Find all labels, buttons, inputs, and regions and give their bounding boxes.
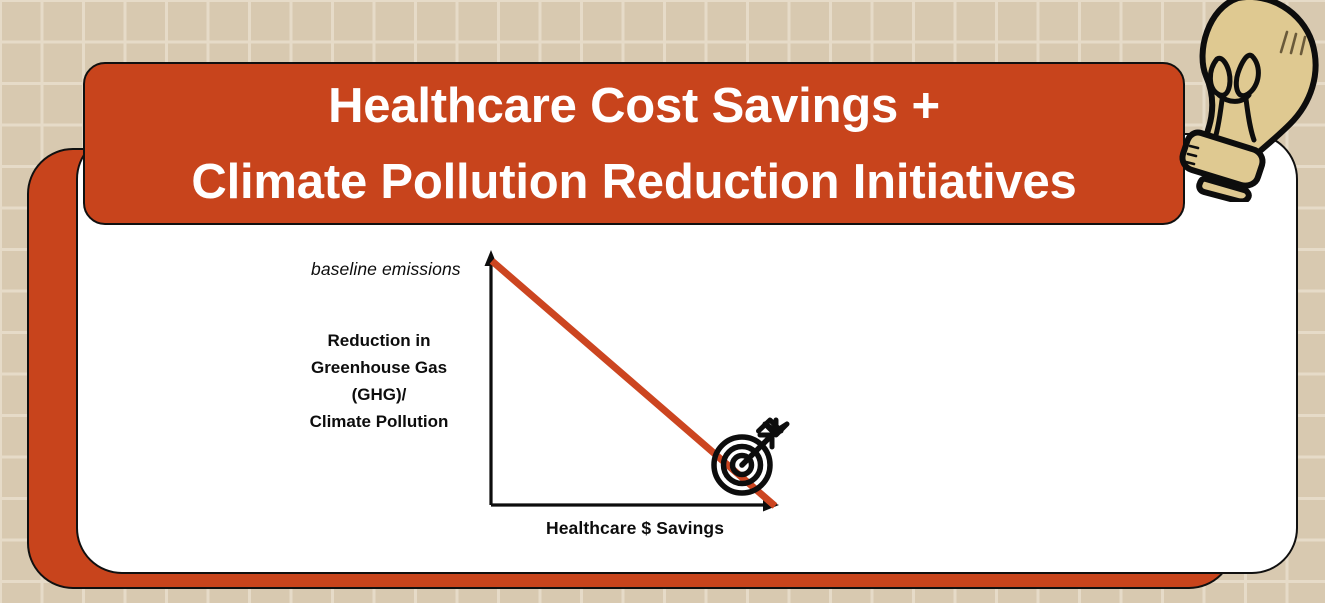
page-title-line-2: Climate Pollution Reduction Initiatives	[191, 144, 1076, 220]
y-axis-label-line-2: Greenhouse Gas	[279, 354, 479, 381]
y-axis-label-line-4: Climate Pollution	[279, 408, 479, 435]
target-bullseye-icon	[714, 420, 787, 493]
title-banner: Healthcare Cost Savings + Climate Pollut…	[83, 62, 1185, 225]
x-axis	[491, 499, 779, 512]
slide-canvas: Healthcare Cost Savings + Climate Pollut…	[0, 0, 1325, 603]
chart-x-axis-label: Healthcare $ Savings	[455, 518, 815, 539]
y-axis	[485, 250, 498, 505]
page-title-line-1: Healthcare Cost Savings +	[328, 68, 940, 144]
chart-y-axis-label: Reduction in Greenhouse Gas (GHG)/ Clima…	[279, 327, 479, 435]
y-axis-label-line-1: Reduction in	[279, 327, 479, 354]
baseline-emissions-annotation: baseline emissions	[311, 259, 461, 280]
y-axis-label-line-3: (GHG)/	[279, 381, 479, 408]
